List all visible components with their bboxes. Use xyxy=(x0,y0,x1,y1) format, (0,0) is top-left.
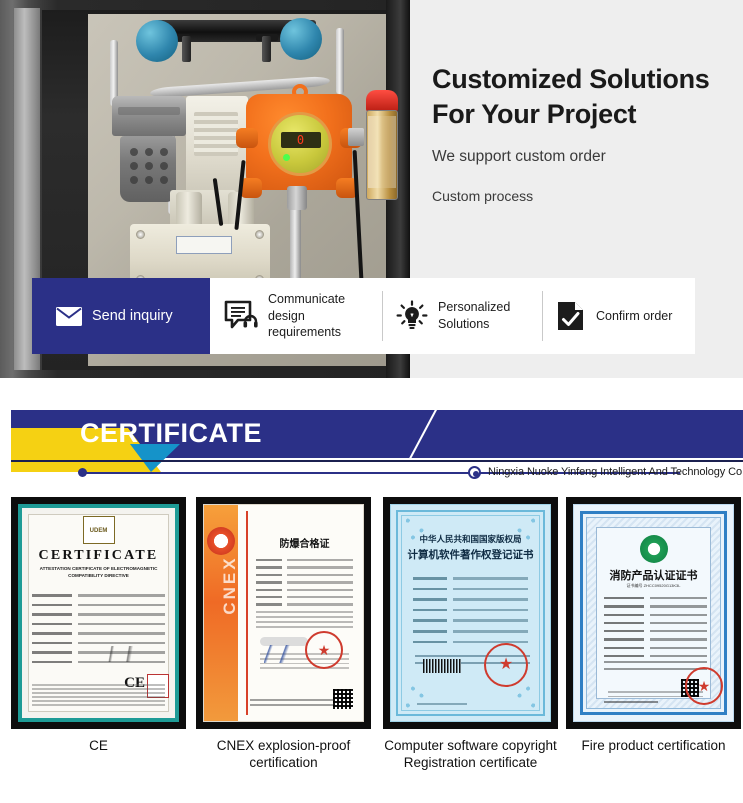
hero-subheadline: We support custom order xyxy=(432,148,743,166)
send-inquiry-button[interactable]: Send inquiry xyxy=(32,278,210,354)
hero-headline: Customized Solutions For Your Project xyxy=(432,62,743,131)
certificate-field-rows xyxy=(413,577,528,651)
gas-detector-display: 0 xyxy=(281,132,321,148)
alarm-beacon-cap xyxy=(366,90,398,112)
certificate-paragraph xyxy=(256,611,353,631)
valve-stem xyxy=(262,36,271,62)
company-name: Ningxia Nuoke Yinfeng Intelligent And Te… xyxy=(488,466,743,478)
certificate-heading-line2: 计算机软件著作权登记证书 xyxy=(391,547,550,562)
certificate-card[interactable]: 消防产品认证证书 证书编号 ZHCC09520G13K3L ★ xyxy=(566,497,741,755)
official-red-seal: ★ xyxy=(305,631,343,669)
certificate-image-cnex: CNEX 防爆合格证 ★ xyxy=(196,497,371,729)
lightbulb-icon xyxy=(396,300,428,332)
junction-box-label xyxy=(176,236,232,254)
detector-neck xyxy=(287,186,307,210)
udem-logo: UDEM xyxy=(83,516,115,544)
envelope-icon xyxy=(56,307,82,326)
certificate-heading: 消防产品认证证书 xyxy=(574,567,733,583)
page-title: CERTIFICATE xyxy=(80,418,262,449)
certificate-paper: UDEM CERTIFICATE ATTESTATION CERTIFICATE… xyxy=(18,504,179,722)
certificate-number: 证书编号 ZHCC09520G13K3L xyxy=(574,583,733,589)
document-check-icon xyxy=(556,300,586,332)
detector-reading: 0 xyxy=(297,133,305,147)
certificate-footer xyxy=(250,699,340,709)
certificate-gallery: UDEM CERTIFICATE ATTESTATION CERTIFICATE… xyxy=(0,497,743,803)
cnex-logo xyxy=(207,527,235,555)
certificate-subheading: ATTESTATION CERTIFICATE OF ELECTROMAGNET… xyxy=(32,566,165,580)
certificate-heading-line1: 中华人民共和国国家版权局 xyxy=(391,533,550,545)
qr-code xyxy=(333,689,353,709)
corner-ornament xyxy=(401,683,435,711)
pipe xyxy=(336,28,344,94)
certificate-paper: CNEX 防爆合格证 ★ xyxy=(203,504,364,722)
fire-certification-logo xyxy=(640,535,668,563)
certificate-card[interactable]: CNEX 防爆合格证 ★ xyxy=(196,497,371,772)
send-inquiry-label: Send inquiry xyxy=(92,308,173,324)
process-step-personalized[interactable]: Personalized Solutions xyxy=(382,278,542,354)
certificate-paper: 中华人民共和国国家版权局 计算机软件著作权登记证书 ★ xyxy=(390,504,551,722)
certificate-banner: CERTIFICATE Ningxia Nuoke Yinfeng Intell… xyxy=(0,404,743,486)
certificate-field-rows xyxy=(256,559,353,611)
certificate-image-fire-product: 消防产品认证证书 证书编号 ZHCC09520G13K3L ★ xyxy=(566,497,741,729)
hero-section: 0 Customized Solutions For Your Project … xyxy=(0,0,743,378)
banner-dot-target xyxy=(468,466,481,479)
certificate-card[interactable]: UDEM CERTIFICATE ATTESTATION CERTIFICATE… xyxy=(11,497,186,755)
signature-mark xyxy=(264,645,304,663)
certificate-field-rows xyxy=(604,597,707,663)
air-filter-head xyxy=(112,96,186,136)
chat-document-support-icon xyxy=(224,300,258,332)
blue-valve-knob xyxy=(280,18,322,60)
alarm-beacon-glass xyxy=(368,116,396,188)
certificate-card[interactable]: 中华人民共和国国家版权局 计算机软件著作权登记证书 ★ Computer xyxy=(383,497,558,772)
process-steps: Communicate design requirements xyxy=(210,278,695,354)
detector-status-led xyxy=(283,154,290,161)
process-step-label: Communicate design requirements xyxy=(268,291,368,342)
certificate-caption: CE xyxy=(11,738,186,755)
official-red-seal: ★ xyxy=(484,643,528,687)
certificate-image-software-copyright: 中华人民共和国国家版权局 计算机软件著作权登记证书 ★ xyxy=(383,497,558,729)
red-divider-line xyxy=(246,511,248,715)
valve-stem xyxy=(182,36,191,62)
certificate-fineprint xyxy=(32,684,165,708)
air-filter-vents xyxy=(130,148,168,192)
certificate-footer xyxy=(604,701,658,703)
corner-ornament xyxy=(506,683,540,711)
certificate-caption: CNEX explosion-proof certification xyxy=(196,738,371,772)
certificate-image-ce: UDEM CERTIFICATE ATTESTATION CERTIFICATE… xyxy=(11,497,186,729)
official-red-seal: ★ xyxy=(685,667,723,705)
blue-valve-knob xyxy=(136,20,178,62)
hero-text-block: Customized Solutions For Your Project We… xyxy=(432,0,743,270)
process-step-label: Confirm order xyxy=(596,308,672,325)
process-step-label: Personalized Solutions xyxy=(438,299,528,333)
banner-bottom-rule xyxy=(11,460,743,462)
certificate-heading: CERTIFICATE xyxy=(22,548,175,564)
process-step-communicate[interactable]: Communicate design requirements xyxy=(210,278,382,354)
electronics-box-vent xyxy=(194,112,238,156)
certificate-caption: Fire product certification xyxy=(566,738,741,755)
process-step-confirm[interactable]: Confirm order xyxy=(542,278,695,354)
banner-dot-start xyxy=(78,468,87,477)
cylinder-fitting xyxy=(176,192,202,228)
certificate-paper: 消防产品认证证书 证书编号 ZHCC09520G13K3L ★ xyxy=(573,504,734,722)
certificate-footer xyxy=(417,703,467,705)
barcode xyxy=(423,659,461,673)
process-bar: Send inquiry Communicate design requirem… xyxy=(32,278,695,354)
hero-caption: Custom process xyxy=(432,188,743,204)
certificate-caption: Computer software copyright Registration… xyxy=(383,738,558,772)
detector-side-port xyxy=(348,128,364,146)
signature-mark xyxy=(105,646,161,662)
certificate-heading: 防爆合格证 xyxy=(256,535,353,550)
